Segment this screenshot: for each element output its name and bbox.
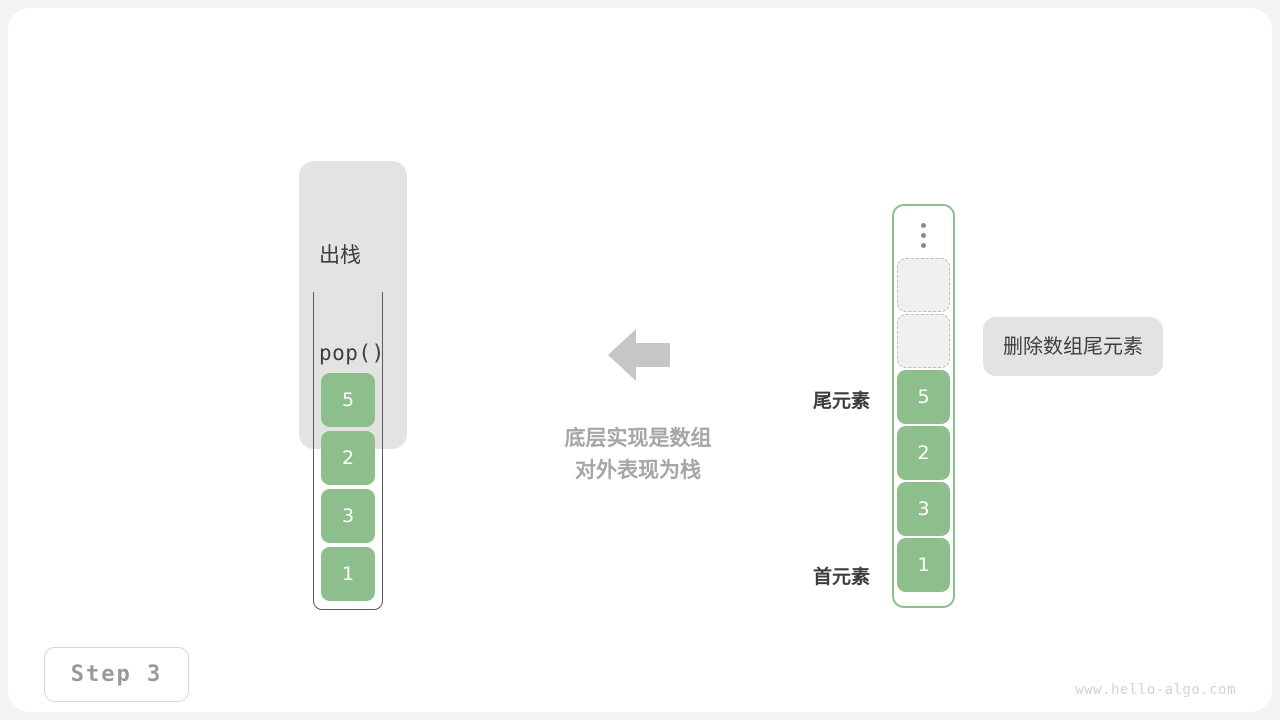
stack-items: 5231 xyxy=(314,371,382,603)
array-tail-label: 尾元素 xyxy=(750,386,870,413)
stack-cell: 3 xyxy=(321,489,375,543)
arrow-left-icon xyxy=(608,325,670,385)
array-cell: 2 xyxy=(897,426,950,480)
stack-cell: 5 xyxy=(321,373,375,427)
caption-line-1: 底层实现是数组 xyxy=(478,423,798,455)
array-cell: 5 xyxy=(897,370,950,424)
figure-caption: 底层实现是数组 对外表现为栈 xyxy=(478,423,798,487)
array-cell: 1 xyxy=(897,538,950,592)
caption-line-2: 对外表现为栈 xyxy=(478,455,798,487)
delete-tail-element-label: 删除数组尾元素 xyxy=(983,317,1163,376)
figure-card: 出栈 pop() 5231 底层实现是数组 对外表现为栈 5231 尾元素 首元… xyxy=(8,8,1272,712)
stack-container: 5231 xyxy=(313,292,383,610)
array-container: 5231 xyxy=(892,204,955,608)
array-cell-empty xyxy=(897,258,950,312)
figure-canvas: 出栈 pop() 5231 底层实现是数组 对外表现为栈 5231 尾元素 首元… xyxy=(0,0,1280,720)
array-slots: 5231 xyxy=(894,257,953,593)
array-cell: 3 xyxy=(897,482,950,536)
array-cell-empty xyxy=(897,314,950,368)
stack-cell: 2 xyxy=(321,431,375,485)
step-badge: Step 3 xyxy=(44,647,189,702)
array-head-label: 首元素 xyxy=(750,562,870,589)
vertical-ellipsis-icon xyxy=(894,216,953,254)
pop-label-line-1: 出栈 xyxy=(319,239,407,272)
watermark: www.hello-algo.com xyxy=(1075,682,1236,698)
stack-cell: 1 xyxy=(321,547,375,601)
